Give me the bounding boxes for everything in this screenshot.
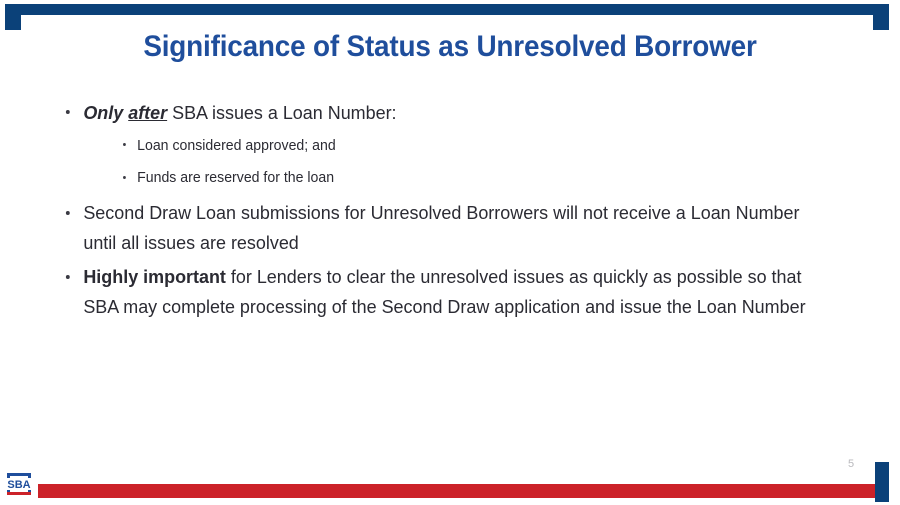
bullet-second-draw: Second Draw Loan submissions for Unresol… [62,198,828,258]
bullet-list-level2: Loan considered approved; andFunds are r… [83,134,828,190]
bullet-dot-icon [66,110,70,114]
bullet-dot-icon [123,143,126,146]
slide-body: Only after SBA issues a Loan Number:Loan… [62,98,852,326]
sub-bullet-text: Funds are reserved for the loan [137,169,334,186]
top-bracket-horizontal-bar [5,4,889,15]
bullet-text-segment: after [128,102,167,123]
bullet-text: Second Draw Loan submissions for Unresol… [83,202,799,253]
bullet-list-level1: Only after SBA issues a Loan Number:Loan… [62,98,852,322]
bullet-text-segment: Highly important [83,266,226,287]
footer-red-bar [38,484,881,498]
bullet-dot-icon [66,211,70,215]
sub-bullet-text: Loan considered approved; and [137,137,336,154]
page-number: 5 [838,458,864,470]
sub-bullet-item: Loan considered approved; and [120,134,807,157]
top-bracket-right-leg [873,4,889,30]
sba-logo: SBA [4,469,34,499]
bullet-highly-important: Highly important for Lenders to clear th… [62,262,828,322]
bullet-dot-icon [66,275,70,279]
sba-logo-text: SBA [7,479,30,491]
footer-navy-tab [875,462,889,502]
page-title: Significance of Status as Unresolved Bor… [87,30,812,64]
top-bracket-left-leg [5,4,21,30]
bullet-dot-icon [123,176,126,179]
bullet-text-segment: Second Draw Loan submissions for Unresol… [83,202,799,253]
bullet-text: Highly important for Lenders to clear th… [83,266,805,317]
bullet-text-segment: Only [83,102,123,123]
sub-bullet-item: Funds are reserved for the loan [120,166,807,189]
bullet-only-after: Only after SBA issues a Loan Number:Loan… [62,98,828,189]
bullet-text: Only after SBA issues a Loan Number: [83,102,396,123]
bullet-text-segment: SBA issues a Loan Number: [167,102,396,123]
slide-canvas: Significance of Status as Unresolved Bor… [0,0,900,505]
